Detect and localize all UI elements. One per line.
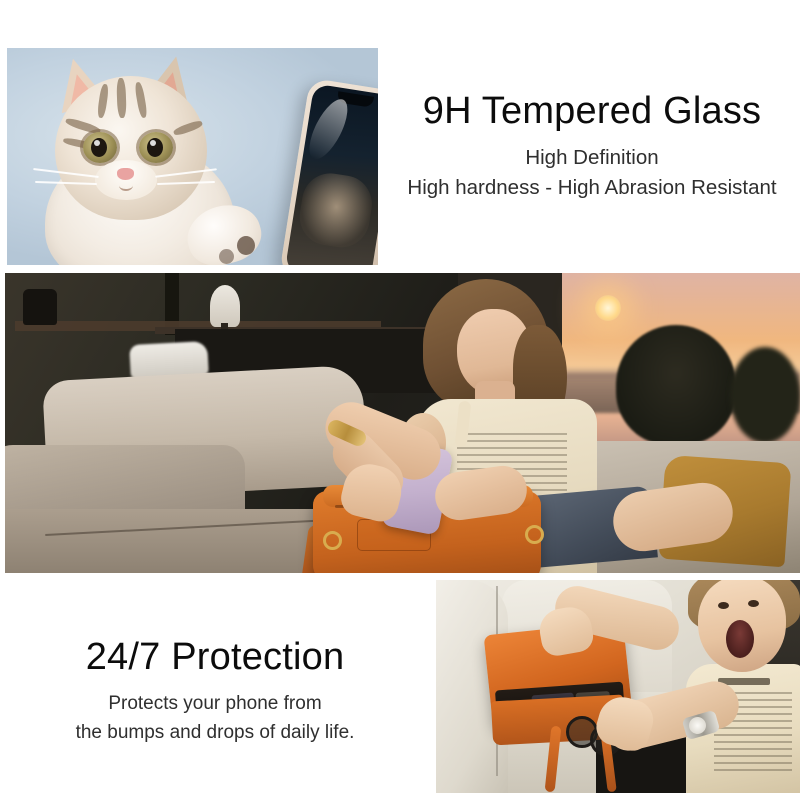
protection-subtitle-1: Protects your phone from — [18, 689, 412, 718]
protection-headline: 24/7 Protection — [18, 634, 412, 680]
table-lamp-icon — [210, 285, 240, 327]
phone-screen-glare — [302, 94, 355, 165]
cat-toe-pad — [237, 236, 255, 255]
cat-pupil — [147, 138, 163, 157]
sun-icon — [595, 295, 621, 321]
glass-headline: 9H Tempered Glass — [392, 88, 792, 134]
protection-subtitle-2: the bumps and drops of daily life. — [18, 718, 412, 747]
phone-screen-reflection — [296, 169, 376, 251]
glass-text-block: 9H Tempered Glass High Definition High h… — [392, 88, 792, 203]
decor-vase — [23, 289, 57, 325]
cat-mouth — [119, 180, 133, 191]
woman-eye — [718, 602, 729, 609]
photo-bag-theft — [436, 580, 800, 793]
woman-eye — [748, 600, 759, 607]
glass-subtitle-2: High hardness - High Abrasion Resistant — [392, 173, 792, 203]
photo-cat-with-phone — [7, 48, 378, 265]
tree-silhouette — [730, 347, 800, 443]
photo-woman-bag-sofa — [5, 273, 800, 573]
product-feature-banner: 9H Tempered Glass High Definition High h… — [0, 0, 800, 800]
handbag-hardware-ring — [525, 525, 544, 544]
cat-eye-right — [139, 132, 173, 163]
cat-pupil — [91, 138, 107, 157]
cat-toe-pad — [219, 249, 234, 264]
glass-subtitle-1: High Definition — [392, 143, 792, 173]
cat-eye-left — [83, 132, 117, 163]
tree-silhouette — [616, 325, 736, 445]
protection-text-block: 24/7 Protection Protects your phone from… — [18, 634, 412, 747]
handbag-hardware-ring — [323, 531, 342, 550]
woman-open-mouth — [726, 620, 754, 658]
cat-nose-icon — [117, 168, 134, 180]
